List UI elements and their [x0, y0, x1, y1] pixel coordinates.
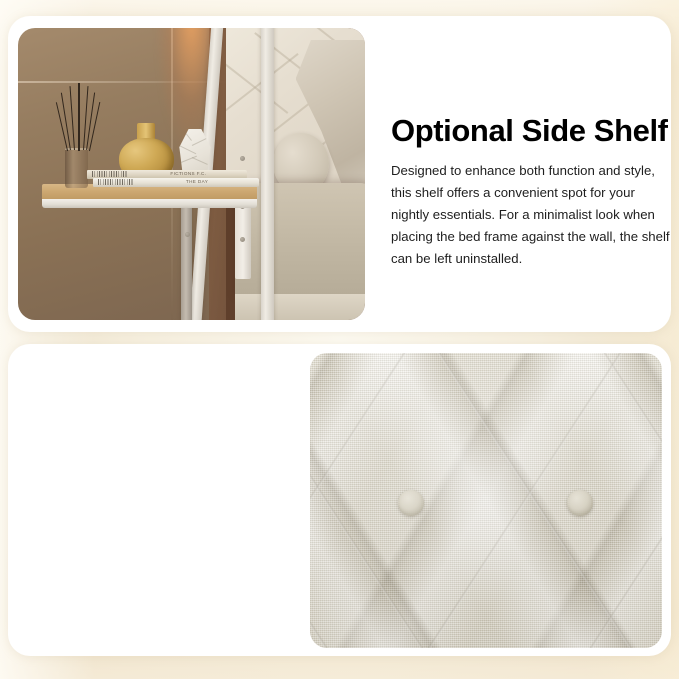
button-tufted-fabric-closeup: [310, 353, 662, 648]
feature-card-side-shelf: FICTIONS F.C. THE DAY Optional Side Shel…: [8, 16, 671, 332]
shelf-support-leg: [181, 197, 192, 320]
book-spine-pattern: [98, 179, 135, 185]
side-shelf-body: Designed to enhance both function and st…: [391, 160, 671, 270]
shelf-white-edge: [42, 199, 257, 208]
tufted-fabric-art: [310, 353, 662, 648]
side-shelf-bedroom-photo: FICTIONS F.C. THE DAY: [18, 28, 365, 320]
book-lower: THE DAY: [93, 178, 260, 187]
book-upper-spine-text: FICTIONS F.C.: [170, 171, 206, 176]
bed-frame-post-vertical: [261, 28, 274, 320]
bedroom-scene: FICTIONS F.C. THE DAY: [18, 28, 365, 320]
page-background: FICTIONS F.C. THE DAY Optional Side Shel…: [0, 0, 679, 679]
feature-card-button-tufted: Button Tufted Design Stylish and exquisi…: [8, 344, 671, 656]
book-spine-pattern: [92, 171, 127, 177]
bed-base: [235, 294, 365, 320]
side-shelf-headline: Optional Side Shelf: [391, 114, 671, 148]
side-shelf-text-block: Optional Side Shelf Designed to enhance …: [391, 114, 671, 270]
book-lower-spine-text: THE DAY: [186, 179, 208, 184]
reed-diffuser-jar: [65, 148, 88, 188]
fabric-lighting: [310, 353, 662, 648]
